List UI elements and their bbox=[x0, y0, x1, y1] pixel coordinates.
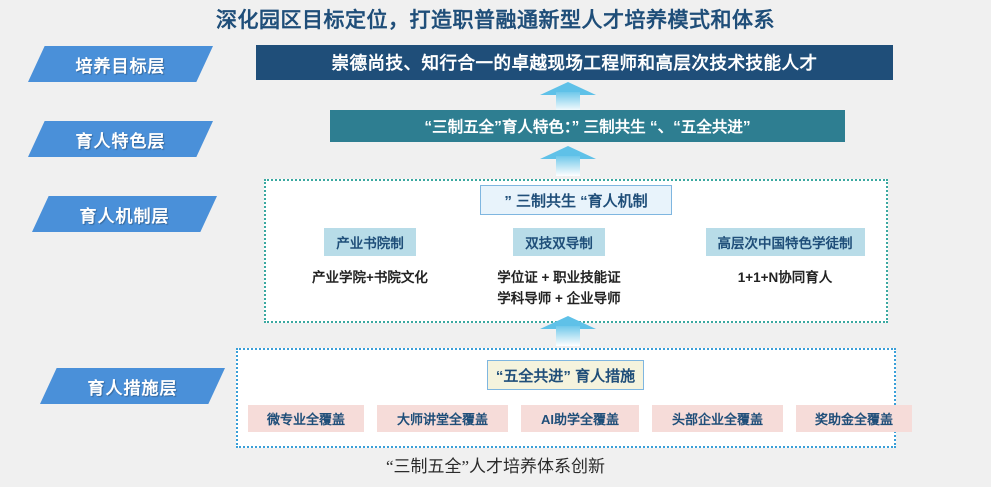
diagram-canvas: 深化园区目标定位，打造职普融通新型人才培养模式和体系 培养目标层 育人特色层 育… bbox=[0, 0, 991, 487]
mechanism-desc-1: 产业学院+书院文化 bbox=[280, 267, 460, 288]
arrow-shaft bbox=[556, 326, 580, 346]
mechanism-column-2: 双技双导制 学位证 + 职业技能证 学科导师 + 企业导师 bbox=[468, 228, 650, 309]
layer-label-measure-text: 育人措施层 bbox=[88, 374, 178, 399]
arrow-up-goal bbox=[540, 82, 596, 112]
measure-header-text: “五全共进” 育人措施 bbox=[496, 365, 635, 386]
page-title: 深化园区目标定位，打造职普融通新型人才培养模式和体系 bbox=[0, 4, 991, 34]
mechanism-desc-2: 学位证 + 职业技能证 学科导师 + 企业导师 bbox=[468, 267, 650, 309]
measure-header: “五全共进” 育人措施 bbox=[487, 360, 644, 390]
measure-item-4: 头部企业全覆盖 bbox=[652, 405, 783, 432]
mechanism-tag-2: 双技双导制 bbox=[513, 228, 605, 256]
goal-bar-text: 崇德尚技、知行合一的卓越现场工程师和高层次技术技能人才 bbox=[332, 50, 818, 75]
goal-bar: 崇德尚技、知行合一的卓越现场工程师和高层次技术技能人才 bbox=[256, 45, 893, 80]
mechanism-header-text: ” 三制共生 “育人机制 bbox=[504, 190, 647, 211]
layer-label-goal: 培养目标层 bbox=[28, 46, 213, 82]
feature-bar-text: “三制五全”育人特色：” 三制共生 “、“五全共进” bbox=[424, 115, 750, 137]
mechanism-tag-1: 产业书院制 bbox=[324, 228, 416, 256]
layer-label-mechanism-text: 育人机制层 bbox=[80, 202, 170, 227]
measure-item-3: AI助学全覆盖 bbox=[521, 405, 639, 432]
measure-item-3-text: AI助学全覆盖 bbox=[541, 409, 619, 428]
measure-item-1-text: 微专业全覆盖 bbox=[267, 409, 345, 428]
measure-item-4-text: 头部企业全覆盖 bbox=[672, 409, 763, 428]
arrow-up-feature bbox=[540, 146, 596, 176]
layer-label-feature-text: 育人特色层 bbox=[76, 127, 166, 152]
arrow-shaft bbox=[556, 92, 580, 112]
layer-label-feature: 育人特色层 bbox=[28, 121, 213, 157]
mechanism-desc-3: 1+1+N协同育人 bbox=[690, 267, 880, 288]
mechanism-header: ” 三制共生 “育人机制 bbox=[480, 185, 672, 215]
figure-caption: “三制五全”人才培养体系创新 bbox=[0, 452, 991, 477]
measure-item-1: 微专业全覆盖 bbox=[248, 405, 364, 432]
mechanism-column-3: 高层次中国特色学徒制 1+1+N协同育人 bbox=[690, 228, 880, 288]
mechanism-desc-2-line-2: 学科导师 + 企业导师 bbox=[468, 288, 650, 309]
feature-bar: “三制五全”育人特色：” 三制共生 “、“五全共进” bbox=[330, 110, 845, 142]
mechanism-desc-2-line-1: 学位证 + 职业技能证 bbox=[468, 267, 650, 288]
arrow-shaft bbox=[556, 156, 580, 176]
layer-label-measure: 育人措施层 bbox=[40, 368, 225, 404]
measure-item-2-text: 大师讲堂全覆盖 bbox=[397, 409, 488, 428]
mechanism-column-1: 产业书院制 产业学院+书院文化 bbox=[280, 228, 460, 288]
measure-item-5-text: 奖助金全覆盖 bbox=[815, 409, 893, 428]
layer-label-mechanism: 育人机制层 bbox=[32, 196, 217, 232]
measure-item-5: 奖助金全覆盖 bbox=[796, 405, 912, 432]
arrow-up-mechanism bbox=[540, 316, 596, 346]
layer-label-goal-text: 培养目标层 bbox=[76, 52, 166, 77]
mechanism-tag-3: 高层次中国特色学徒制 bbox=[706, 228, 865, 256]
measure-item-2: 大师讲堂全覆盖 bbox=[377, 405, 508, 432]
